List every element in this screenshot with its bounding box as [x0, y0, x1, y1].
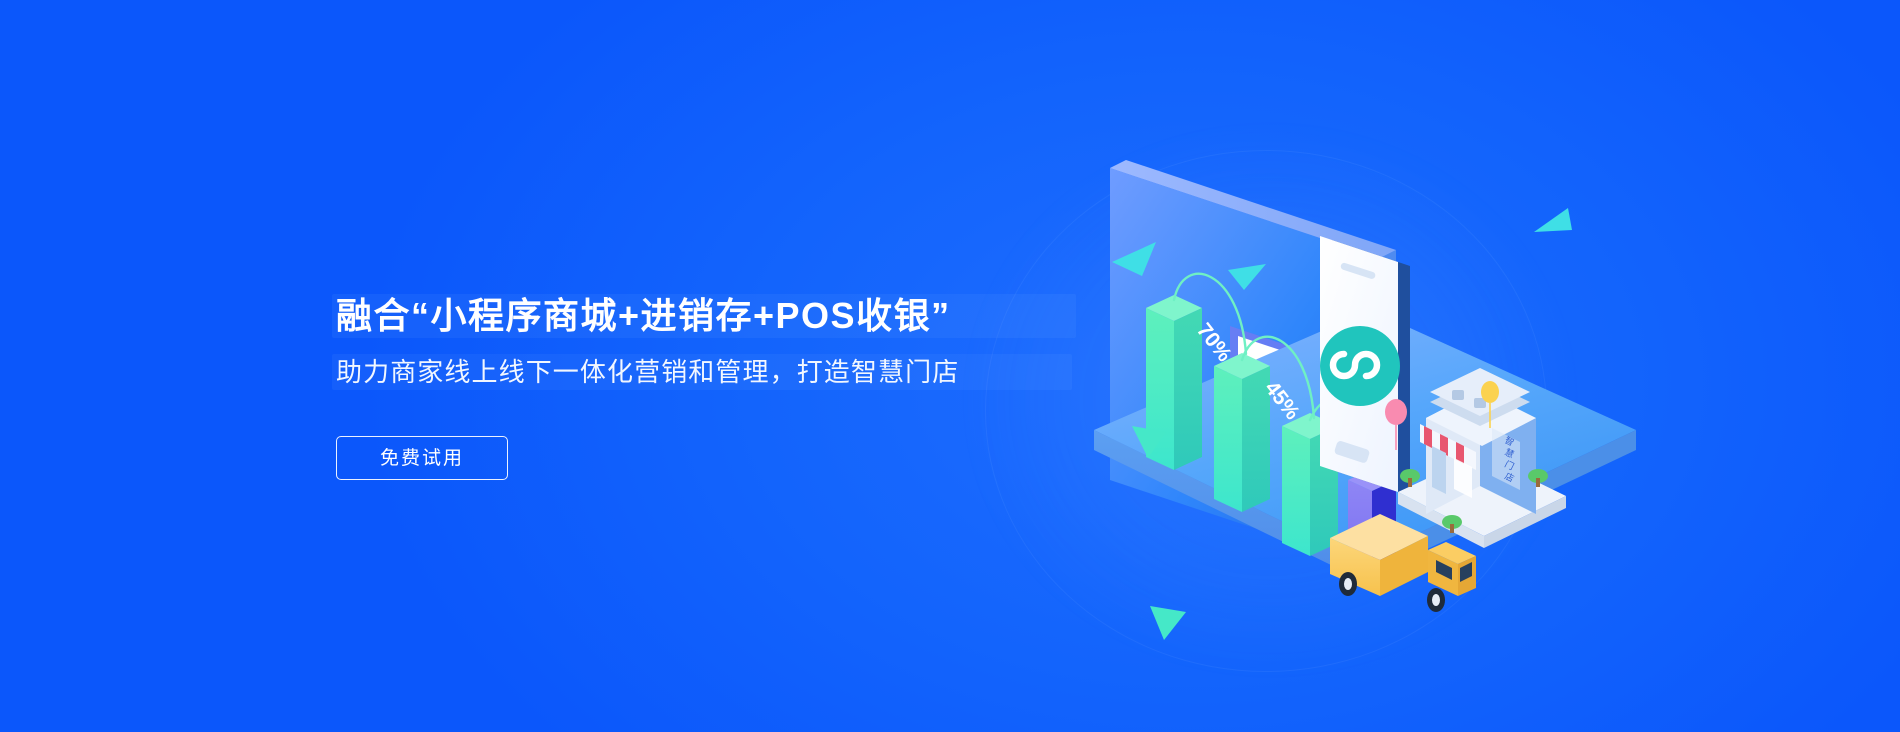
triangle-icon: [1534, 206, 1574, 240]
hero-copy: 融合“小程序商城+进销存+POS收银” 助力商家线上线下一体化营销和管理，打造智…: [336, 290, 1116, 480]
hero-banner: 融合“小程序商城+进销存+POS收银” 助力商家线上线下一体化营销和管理，打造智…: [0, 0, 1900, 732]
wechat-miniprogram-logo: [1320, 326, 1400, 406]
free-trial-button[interactable]: 免费试用: [336, 436, 508, 480]
subheadline-wrapper: 助力商家线上线下一体化营销和管理，打造智慧门店: [336, 352, 1116, 392]
triangle-icon: [1112, 238, 1158, 278]
triangle-icon: [1130, 422, 1170, 460]
headline-wrapper: 融合“小程序商城+进销存+POS收银”: [336, 290, 1116, 342]
triangle-icon: [1148, 600, 1190, 642]
triangle-icon: [1228, 258, 1268, 292]
bar-2: [1214, 353, 1270, 512]
smartphone: [1320, 236, 1410, 496]
page-title: 融合“小程序商城+进销存+POS收银”: [336, 290, 1116, 342]
page-subtitle: 助力商家线上线下一体化营销和管理，打造智慧门店: [336, 352, 1116, 392]
